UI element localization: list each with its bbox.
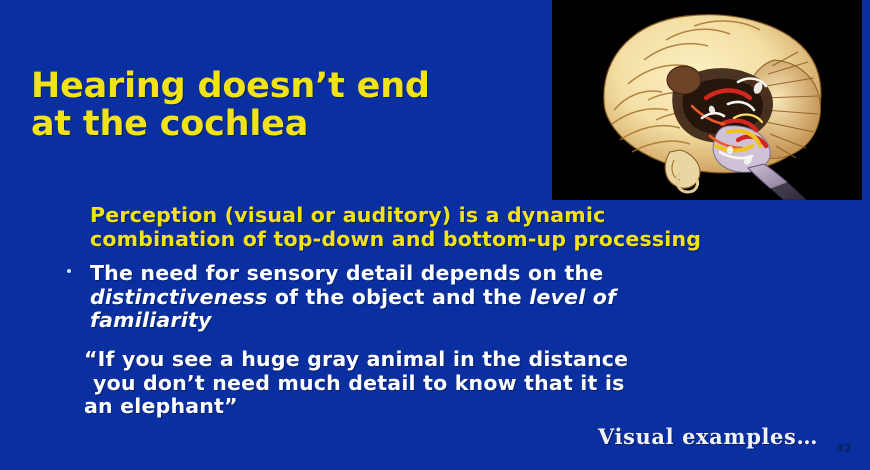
bullet-marker-icon <box>67 269 71 273</box>
brain-anatomy-image <box>552 0 862 200</box>
bullet-line-1: The need for sensory detail depends on t… <box>90 262 860 286</box>
bullet-emphasis-distinctiveness: distinctiveness <box>90 285 267 309</box>
bullet-line-2-plain: of the object and the <box>267 285 529 309</box>
bullet-text: The need for sensory detail depends on t… <box>90 262 860 333</box>
quote-line-3: an elephant” <box>84 395 864 419</box>
bullet-emphasis-level-of: level of <box>529 285 616 309</box>
lead-paragraph: Perception (visual or auditory) is a dyn… <box>90 204 870 251</box>
bullet-emphasis-familiarity: familiarity <box>90 308 212 332</box>
slide-title: Hearing doesn’t end at the cochlea <box>31 67 531 143</box>
lead-paragraph-line-2: combination of top-down and bottom-up pr… <box>90 228 870 252</box>
presentation-slide: Hearing doesn’t end at the cochlea Perce… <box>0 0 870 470</box>
quote-block: “If you see a huge gray animal in the di… <box>84 348 864 419</box>
page-number: 32 <box>836 442 852 455</box>
brain-illustration-icon <box>552 0 862 200</box>
footer-note: Visual examples… <box>598 424 818 449</box>
quote-line-2: you don’t need much detail to know that … <box>84 372 864 396</box>
lead-paragraph-line-1: Perception (visual or auditory) is a dyn… <box>90 204 870 228</box>
slide-title-line-2: at the cochlea <box>31 105 531 143</box>
quote-line-1: “If you see a huge gray animal in the di… <box>84 348 864 372</box>
bullet-line-3: familiarity <box>90 309 860 333</box>
bullet-line-2: distinctiveness of the object and the le… <box>90 286 860 310</box>
slide-title-line-1: Hearing doesn’t end <box>31 67 531 105</box>
